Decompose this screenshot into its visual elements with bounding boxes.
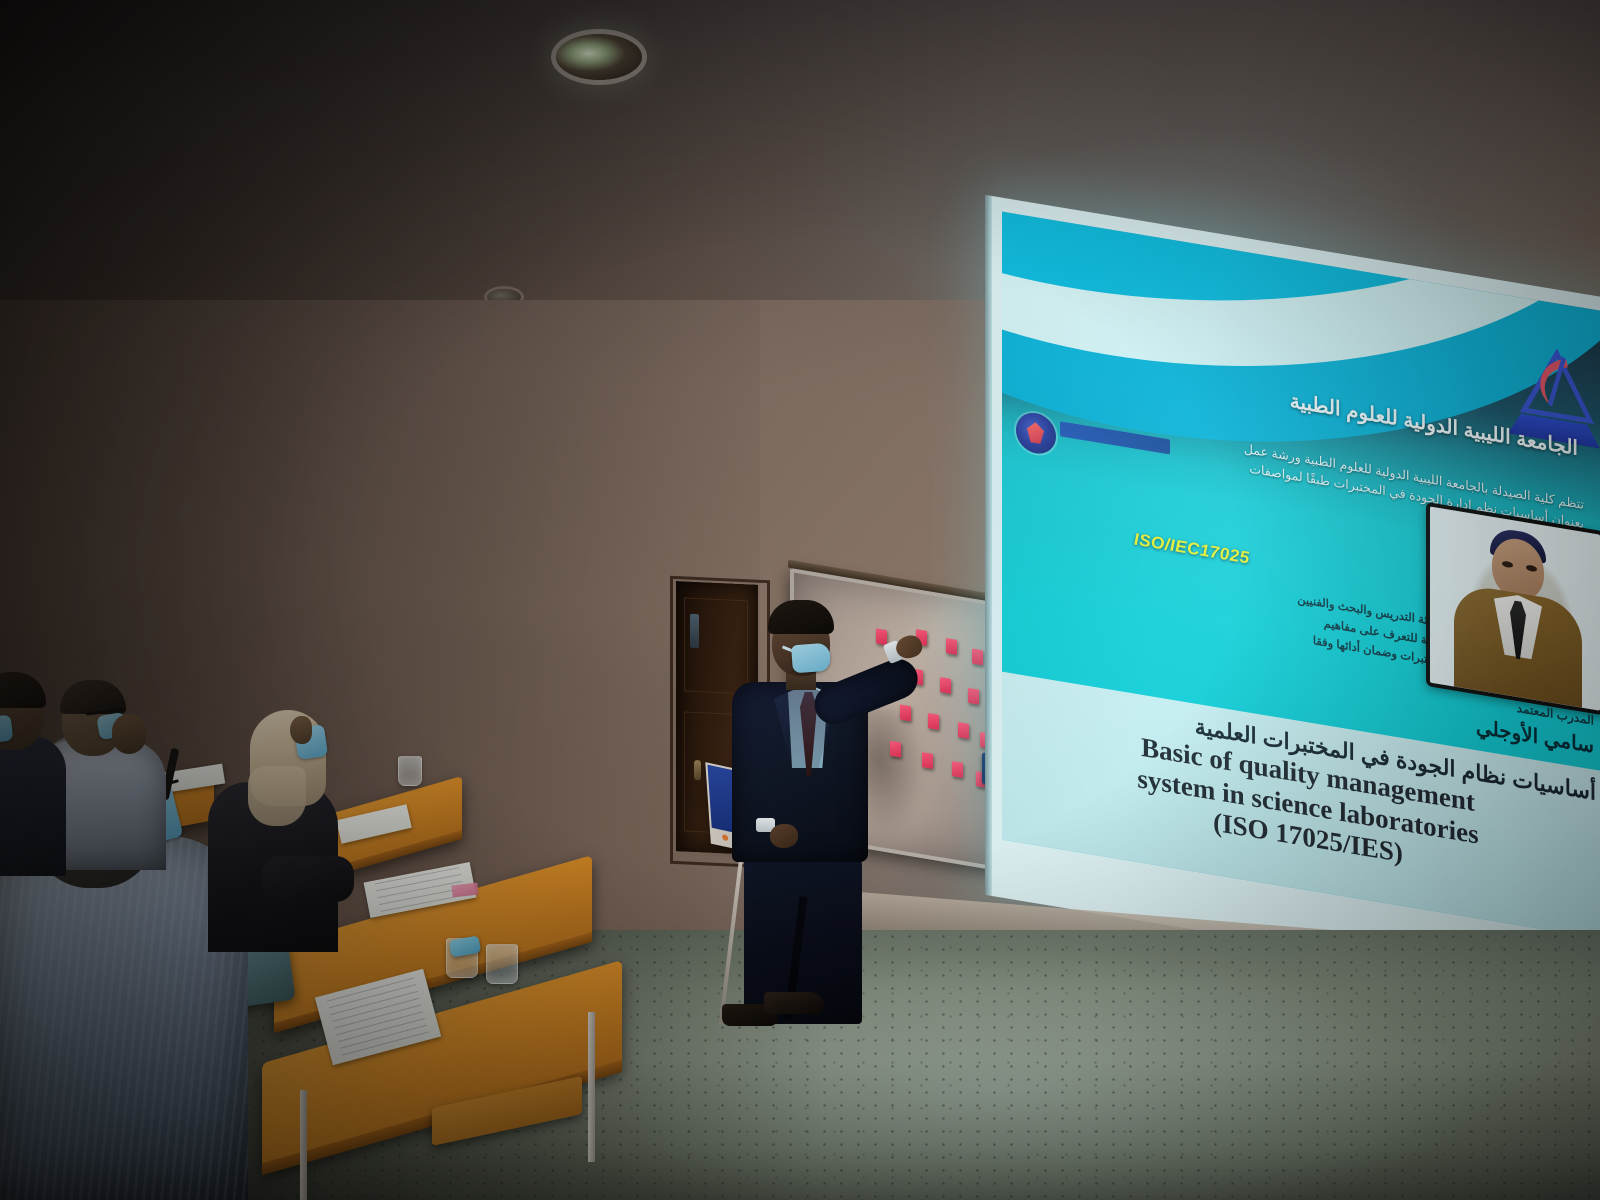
trainer-photo-card	[1426, 502, 1600, 715]
attendee-hand-at-face	[112, 714, 146, 754]
presenter-hair	[768, 600, 834, 634]
sticky-note[interactable]	[958, 722, 969, 739]
attendee-face	[290, 716, 312, 744]
sticky-note[interactable]	[968, 688, 979, 705]
water-glass[interactable]	[398, 756, 422, 786]
trainer-photo	[1430, 507, 1600, 711]
desk-leg	[300, 1090, 307, 1200]
sticky-note[interactable]	[952, 761, 963, 778]
ceiling-downlight-icon	[556, 34, 642, 80]
presenter	[700, 596, 930, 1036]
attendee-arm	[262, 856, 354, 902]
classroom-scene: الجامعة الليبية الدولية للعلوم الطبية تت…	[0, 0, 1600, 1200]
door-glass-pane	[690, 614, 699, 648]
screen-edge	[985, 195, 992, 896]
slide-iso-badge: ISO/IEC17025	[1134, 530, 1250, 569]
sticky-note[interactable]	[940, 677, 951, 694]
presentation-slide: الجامعة الليبية الدولية للعلوم الطبية تت…	[1002, 212, 1600, 941]
attendee-hijab-drape	[248, 766, 306, 826]
presenter-face-mask	[791, 643, 831, 674]
projection-screen: الجامعة الليبية الدولية للعلوم الطبية تت…	[992, 196, 1600, 998]
desk-leg	[588, 1012, 595, 1162]
presenter-shoe	[764, 992, 824, 1014]
water-glass[interactable]	[486, 944, 518, 984]
screen-surface: الجامعة الليبية الدولية للعلوم الطبية تت…	[992, 196, 1600, 998]
attendee-torso	[0, 736, 66, 876]
sticky-note[interactable]	[972, 648, 983, 665]
sticky-note[interactable]	[946, 638, 957, 655]
presenter-hand	[770, 824, 798, 848]
